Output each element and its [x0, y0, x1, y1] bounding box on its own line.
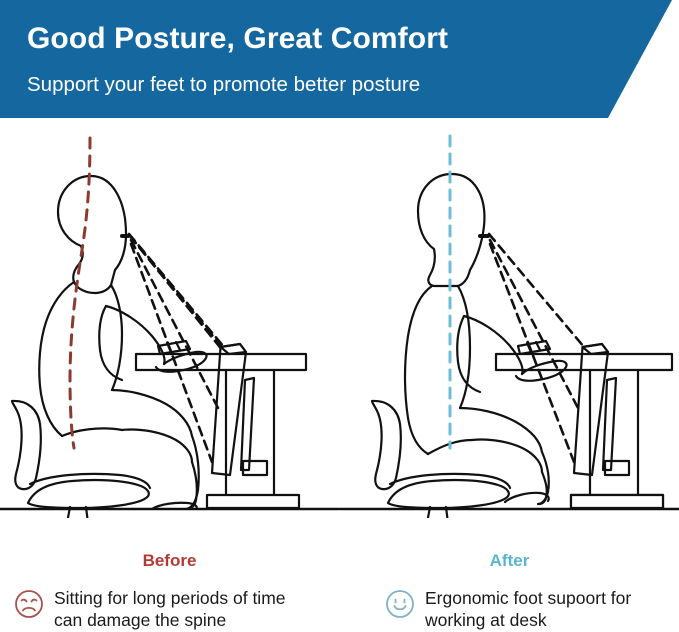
- monitor-before: [212, 344, 267, 475]
- header-banner: Good Posture, Great Comfort Support your…: [0, 0, 679, 118]
- infographic-page: Good Posture, Great Comfort Support your…: [0, 0, 679, 631]
- before-scene: [0, 176, 339, 518]
- before-caption-row: Sitting for long periods of time can dam…: [0, 587, 339, 632]
- monitor-after: [574, 344, 629, 475]
- sight-lines-after: [489, 234, 584, 462]
- chair-after: [361, 401, 511, 518]
- after-scene: [340, 174, 679, 518]
- before-heading: Before: [0, 552, 339, 569]
- captions-area: Before Sitting for long periods of time …: [0, 518, 679, 631]
- sad-face-icon: [14, 589, 44, 619]
- sight-lines-before-fan: [129, 234, 224, 462]
- caption-column-before: Before Sitting for long periods of time …: [0, 518, 339, 631]
- footrest-base: [571, 495, 663, 508]
- chair-before: [1, 401, 151, 518]
- after-heading: After: [340, 552, 679, 569]
- page-subtitle: Support your feet to promote better post…: [27, 75, 587, 96]
- caption-column-after: After Ergonomic foot supoort for working…: [340, 518, 679, 631]
- header-text-block: Good Posture, Great Comfort Support your…: [27, 0, 587, 96]
- desk-after: [496, 354, 672, 508]
- after-caption-text: Ergonomic foot supoort for working at de…: [425, 587, 631, 632]
- desk-before: [136, 354, 306, 508]
- happy-face-icon: [385, 589, 415, 619]
- page-title: Good Posture, Great Comfort: [27, 24, 587, 54]
- after-caption-row: Ergonomic foot supoort for working at de…: [340, 587, 679, 632]
- before-caption-text: Sitting for long periods of time can dam…: [54, 587, 286, 632]
- posture-illustration: [0, 118, 679, 518]
